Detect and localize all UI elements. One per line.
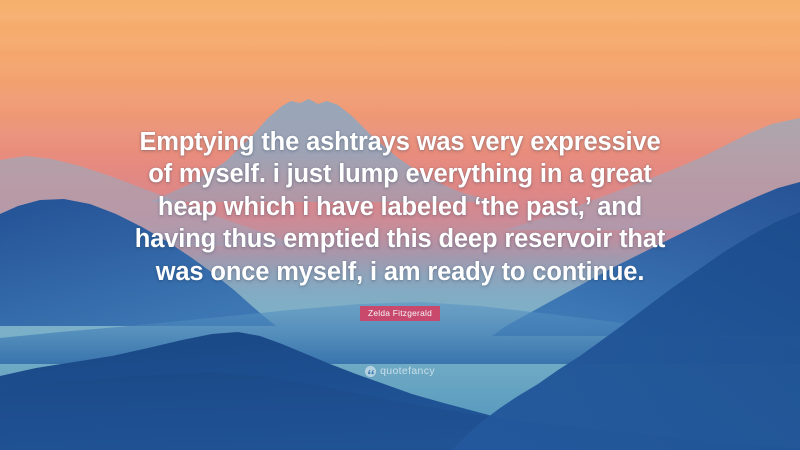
quotefancy-brand-text: quotefancy	[380, 366, 435, 377]
quote-text-block: Emptying the ashtrays was very expressiv…	[0, 126, 800, 288]
quote-line-2: of myself. i just lump everything in a g…	[60, 158, 740, 190]
quote-line-5: was once myself, i am ready to continue.	[60, 256, 740, 288]
quote-line-1: Emptying the ashtrays was very expressiv…	[60, 126, 740, 158]
author-name-badge[interactable]: Zelda Fitzgerald	[360, 306, 440, 321]
quotefancy-watermark[interactable]: quotefancy	[0, 366, 800, 377]
quote-mark-icon	[365, 366, 376, 377]
quote-line-3: heap which i have labeled ‘the past,’ an…	[60, 191, 740, 223]
quote-line-4: having thus emptied this deep reservoir …	[60, 223, 740, 255]
quote-poster: Emptying the ashtrays was very expressiv…	[0, 0, 800, 450]
author-attribution: Zelda Fitzgerald	[0, 303, 800, 321]
